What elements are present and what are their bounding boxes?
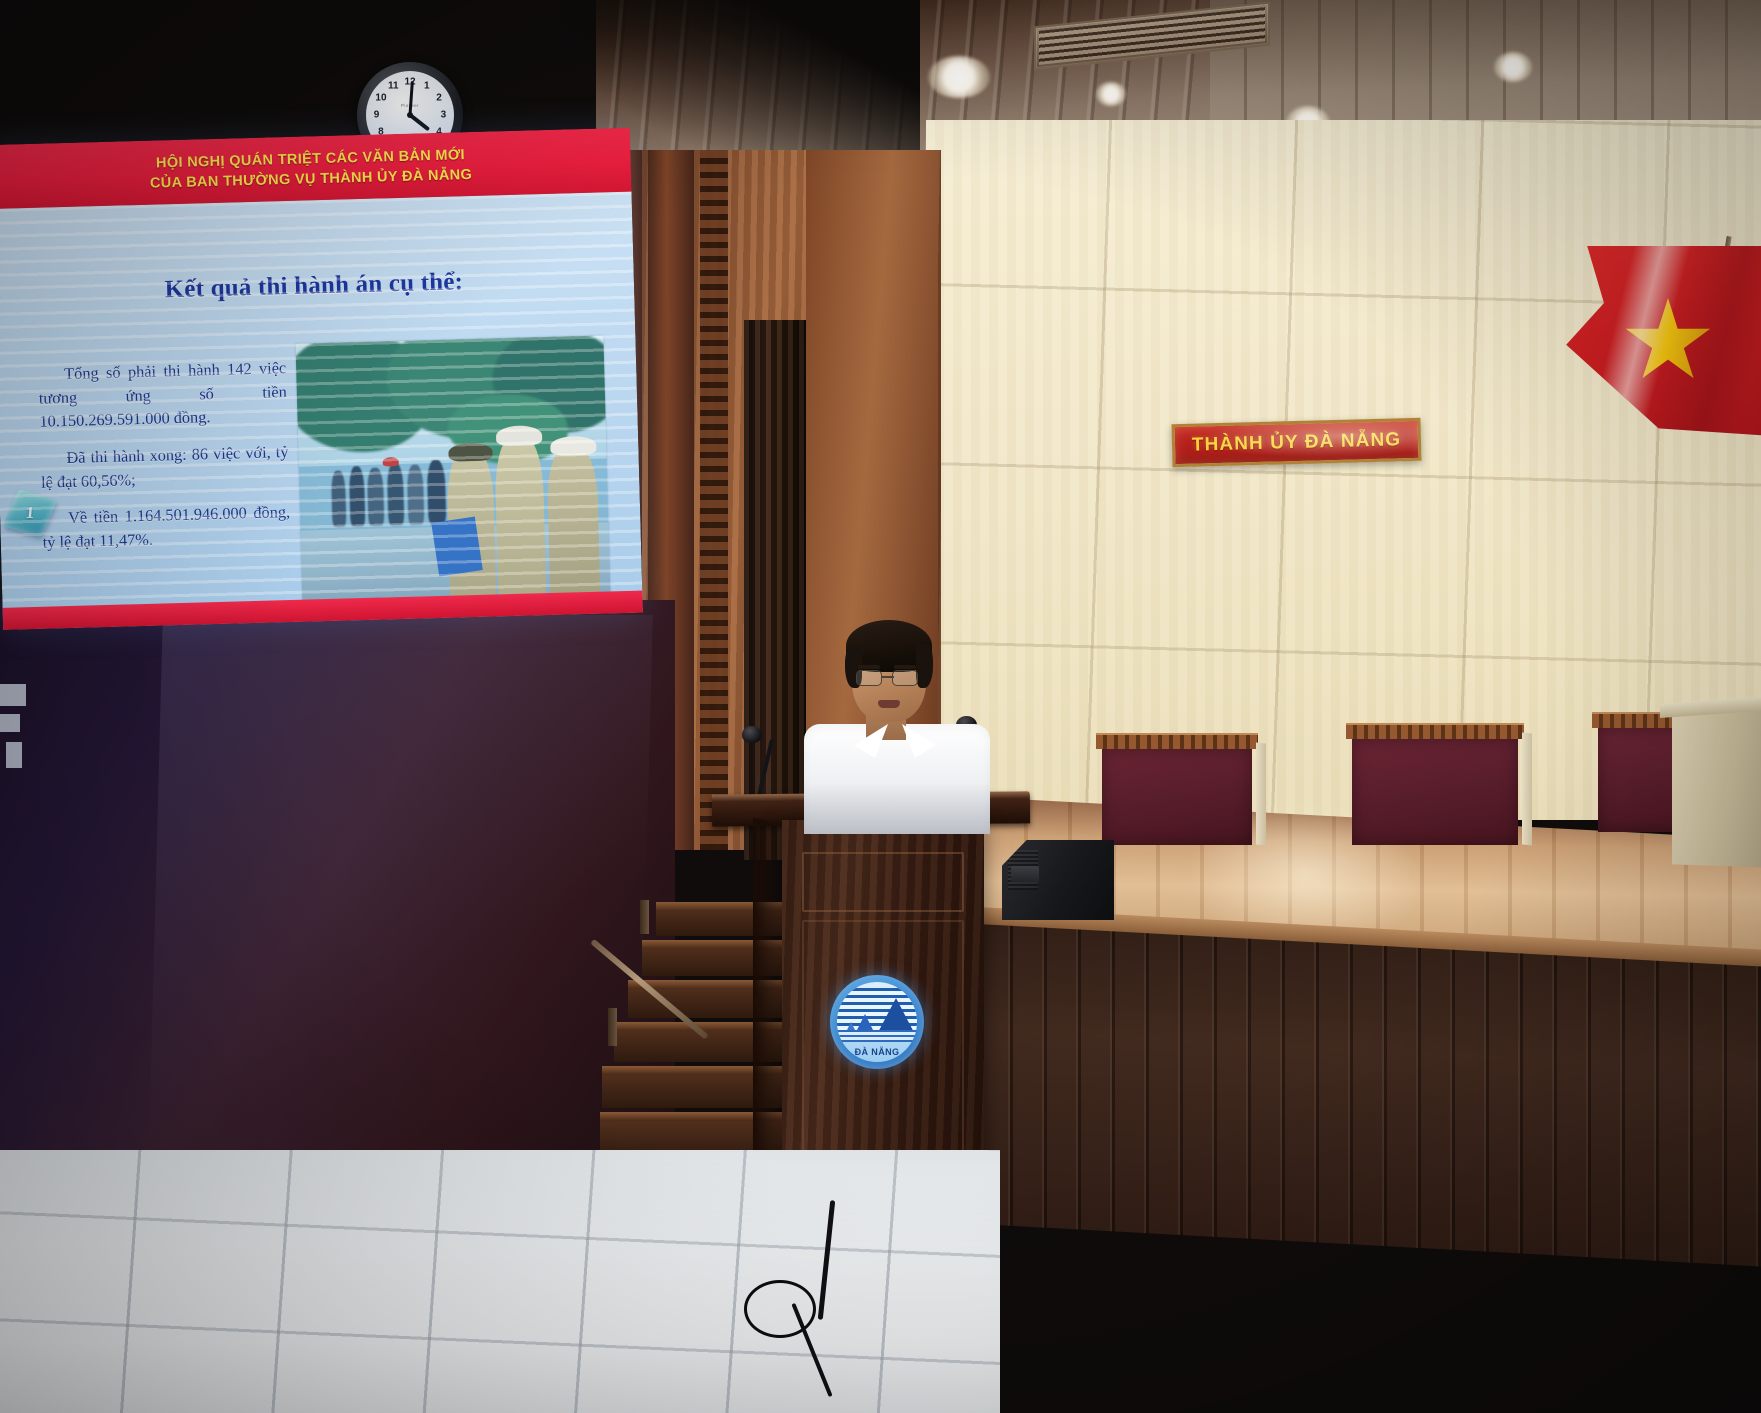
speaker-person bbox=[800, 612, 990, 812]
stage-front-fascia bbox=[940, 922, 1761, 1267]
photo-officer-cap bbox=[496, 425, 543, 446]
photo-crowd bbox=[349, 466, 366, 526]
photo-officer-cap bbox=[550, 436, 596, 456]
chair-backrest bbox=[1102, 749, 1252, 845]
side-lectern bbox=[1672, 704, 1761, 867]
photo-crowd bbox=[387, 463, 405, 525]
photo-crowd bbox=[427, 460, 447, 524]
photo-crowd bbox=[331, 471, 347, 527]
stage-chair bbox=[1096, 733, 1258, 845]
slide-paragraph-1: Tổng số phải thi hành 142 việc tương ứng… bbox=[38, 356, 288, 434]
wall-plaque: THÀNH ỦY ĐÀ NẴNG bbox=[1171, 418, 1421, 468]
slide-paragraph-2: Đã thi hành xong: 86 việc với, tỷ lệ đạt… bbox=[40, 440, 289, 494]
clock-numeral: 2 bbox=[436, 93, 442, 104]
slide-body: Kết quả thi hành án cụ thể: 1 Tổng số ph… bbox=[0, 192, 643, 630]
photo-crowd bbox=[407, 464, 425, 524]
chair-top-rail bbox=[1096, 733, 1258, 749]
floor-tile-grout bbox=[0, 1150, 1000, 1413]
eyeglasses-right-lens bbox=[892, 670, 918, 686]
speaker-eyebrow-right bbox=[894, 665, 916, 669]
tiled-floor bbox=[0, 1150, 1000, 1413]
photo-blue-folder bbox=[431, 517, 483, 577]
slide-paragraph-3: Về tiền 1.164.501.946.000 đồng, tỷ lệ đạ… bbox=[42, 500, 291, 554]
conference-hall-photo: 12 1 2 3 4 5 6 7 8 9 10 11 Pioneer THÀNH… bbox=[0, 0, 1761, 1413]
photo-officer bbox=[546, 448, 600, 605]
photo-officer bbox=[494, 437, 547, 606]
downlight-icon bbox=[1096, 82, 1126, 106]
chair-side-edge bbox=[1256, 742, 1266, 845]
wall-tag bbox=[0, 684, 26, 706]
clock-numeral: 10 bbox=[375, 93, 386, 104]
podium-panel-upper bbox=[802, 852, 964, 912]
emblem-label: ĐÀ NẴNG bbox=[837, 1047, 917, 1057]
emblem-inner-field: ĐÀ NẴNG bbox=[837, 982, 917, 1062]
clock-numeral: 11 bbox=[388, 80, 399, 91]
microphone-left-head bbox=[742, 726, 762, 743]
speaker-mouth bbox=[878, 700, 900, 708]
photo-red-cap bbox=[383, 457, 399, 466]
emblem-water-lines bbox=[837, 1030, 917, 1042]
eyeglasses-bridge bbox=[882, 676, 894, 678]
speaker-eyebrow-left bbox=[858, 665, 880, 669]
handrail-post bbox=[608, 1008, 617, 1046]
dark-doorway-curtain bbox=[744, 320, 808, 860]
chair-backrest bbox=[1352, 739, 1518, 845]
slide-body-text: Tổng số phải thi hành 142 việc tương ứng… bbox=[38, 356, 291, 567]
stage-chair bbox=[1346, 723, 1524, 845]
da-nang-city-emblem: ĐÀ NẴNG bbox=[830, 975, 924, 1069]
clock-numeral: 3 bbox=[441, 110, 447, 121]
projection-screen: HỘI NGHỊ QUÁN TRIỆT CÁC VĂN BẢN MỚI CỦA … bbox=[0, 128, 643, 630]
downlight-icon bbox=[1494, 52, 1532, 82]
panel-reflection bbox=[147, 615, 653, 1215]
slide-title: Kết quả thi hành án cụ thể: bbox=[0, 264, 634, 309]
plaque-text: THÀNH ỦY ĐÀ NẴNG bbox=[1192, 429, 1402, 456]
eyeglasses-left-lens bbox=[856, 670, 882, 686]
photo-officer-cap bbox=[448, 443, 492, 462]
clock-numeral: 9 bbox=[374, 110, 380, 121]
chair-top-rail bbox=[1346, 723, 1524, 739]
chair-side-edge bbox=[1522, 732, 1532, 845]
wall-tag bbox=[0, 714, 20, 732]
wall-tag bbox=[6, 742, 22, 768]
slide-embedded-photo bbox=[295, 335, 610, 610]
carved-wood-strip bbox=[700, 150, 728, 850]
speaker-shirt-shadow bbox=[804, 782, 990, 834]
photo-crowd bbox=[367, 467, 385, 525]
downlight-icon bbox=[928, 56, 990, 98]
speaker-hair-right bbox=[916, 644, 933, 688]
speaker-badge bbox=[1011, 866, 1039, 882]
clock-center-pin bbox=[407, 112, 413, 118]
handrail-post bbox=[640, 900, 649, 934]
stage-monitor-speaker bbox=[1002, 840, 1114, 920]
clock-numeral: 1 bbox=[424, 80, 430, 91]
